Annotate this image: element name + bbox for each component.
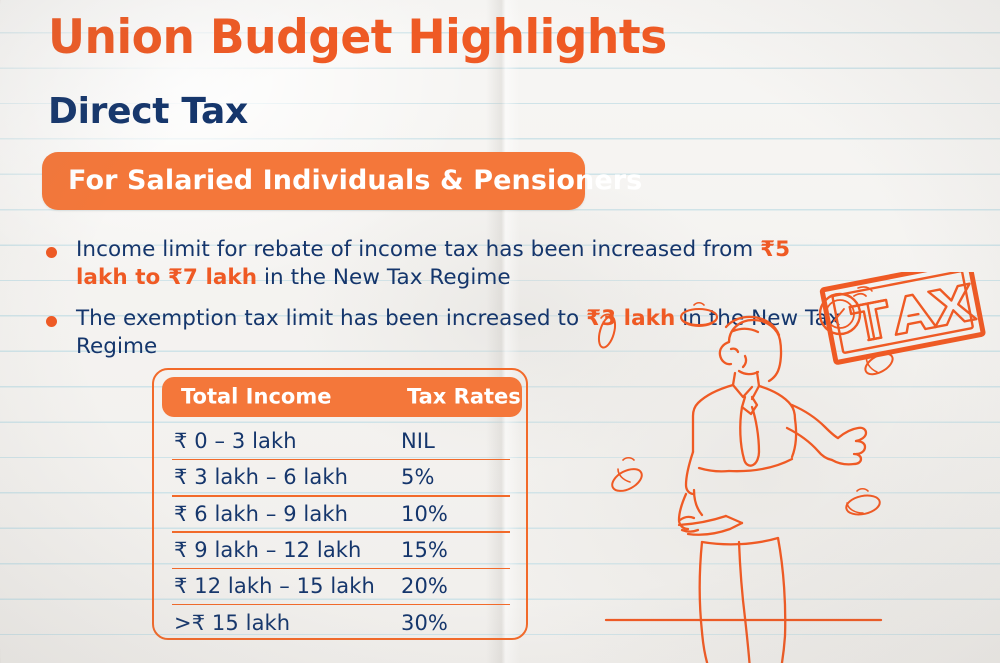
section-banner-label: For Salaried Individuals & Pensioners xyxy=(68,165,642,196)
cell-rate: 30% xyxy=(401,611,448,635)
cell-income: ₹ 0 – 3 lakh xyxy=(174,429,297,453)
coin-icon xyxy=(596,314,618,349)
figure-head xyxy=(720,317,781,381)
page-subtitle: Direct Tax xyxy=(48,94,248,130)
page-title: Union Budget Highlights xyxy=(48,14,667,61)
table-row: ₹ 3 lakh – 6 lakh 5% xyxy=(154,460,526,496)
table-row: ₹ 0 – 3 lakh NIL xyxy=(154,424,526,460)
tax-slab-table: Total Income Tax Rates ₹ 0 – 3 lakh NIL … xyxy=(152,368,528,640)
cell-income: ₹ 12 lakh – 15 lakh xyxy=(174,574,375,598)
cell-rate: 5% xyxy=(401,465,435,489)
cell-rate: 20% xyxy=(401,574,448,598)
tax-stamp-icon xyxy=(822,272,983,363)
table-row: >₹ 15 lakh 30% xyxy=(154,605,526,641)
businessman-illustration xyxy=(596,272,1000,663)
coin-icon xyxy=(845,489,882,518)
cell-income: >₹ 15 lakh xyxy=(174,611,290,635)
table-body: ₹ 0 – 3 lakh NIL ₹ 3 lakh – 6 lakh 5% ₹ … xyxy=(154,424,526,642)
cell-income: ₹ 6 lakh – 9 lakh xyxy=(174,502,348,526)
table-header-row: Total Income Tax Rates xyxy=(162,377,522,417)
figure-legs xyxy=(700,538,787,663)
bullet-dot-icon xyxy=(46,316,57,327)
infographic-page: Union Budget Highlights Direct Tax For S… xyxy=(0,0,1000,663)
cell-rate: 10% xyxy=(401,502,448,526)
table-header-tax-rates: Tax Rates xyxy=(407,385,521,409)
table-row: ₹ 12 lakh – 15 lakh 20% xyxy=(154,569,526,605)
coin-icon xyxy=(681,303,717,326)
table-row: ₹ 6 lakh – 9 lakh 10% xyxy=(154,497,526,533)
cell-rate: NIL xyxy=(401,429,435,453)
cell-income: ₹ 3 lakh – 6 lakh xyxy=(174,465,348,489)
table-row: ₹ 9 lakh – 12 lakh 15% xyxy=(154,533,526,569)
table-header-total-income: Total Income xyxy=(181,385,331,409)
section-banner: For Salaried Individuals & Pensioners xyxy=(42,152,585,210)
coin-icon xyxy=(609,458,646,496)
cell-income: ₹ 9 lakh – 12 lakh xyxy=(174,538,361,562)
figure-pointing-arm xyxy=(787,405,866,464)
figure-collar-and-tie xyxy=(733,372,759,466)
cell-rate: 15% xyxy=(401,538,448,562)
bullet-dot-icon xyxy=(46,247,57,258)
figure-tablet-arm xyxy=(679,490,742,535)
